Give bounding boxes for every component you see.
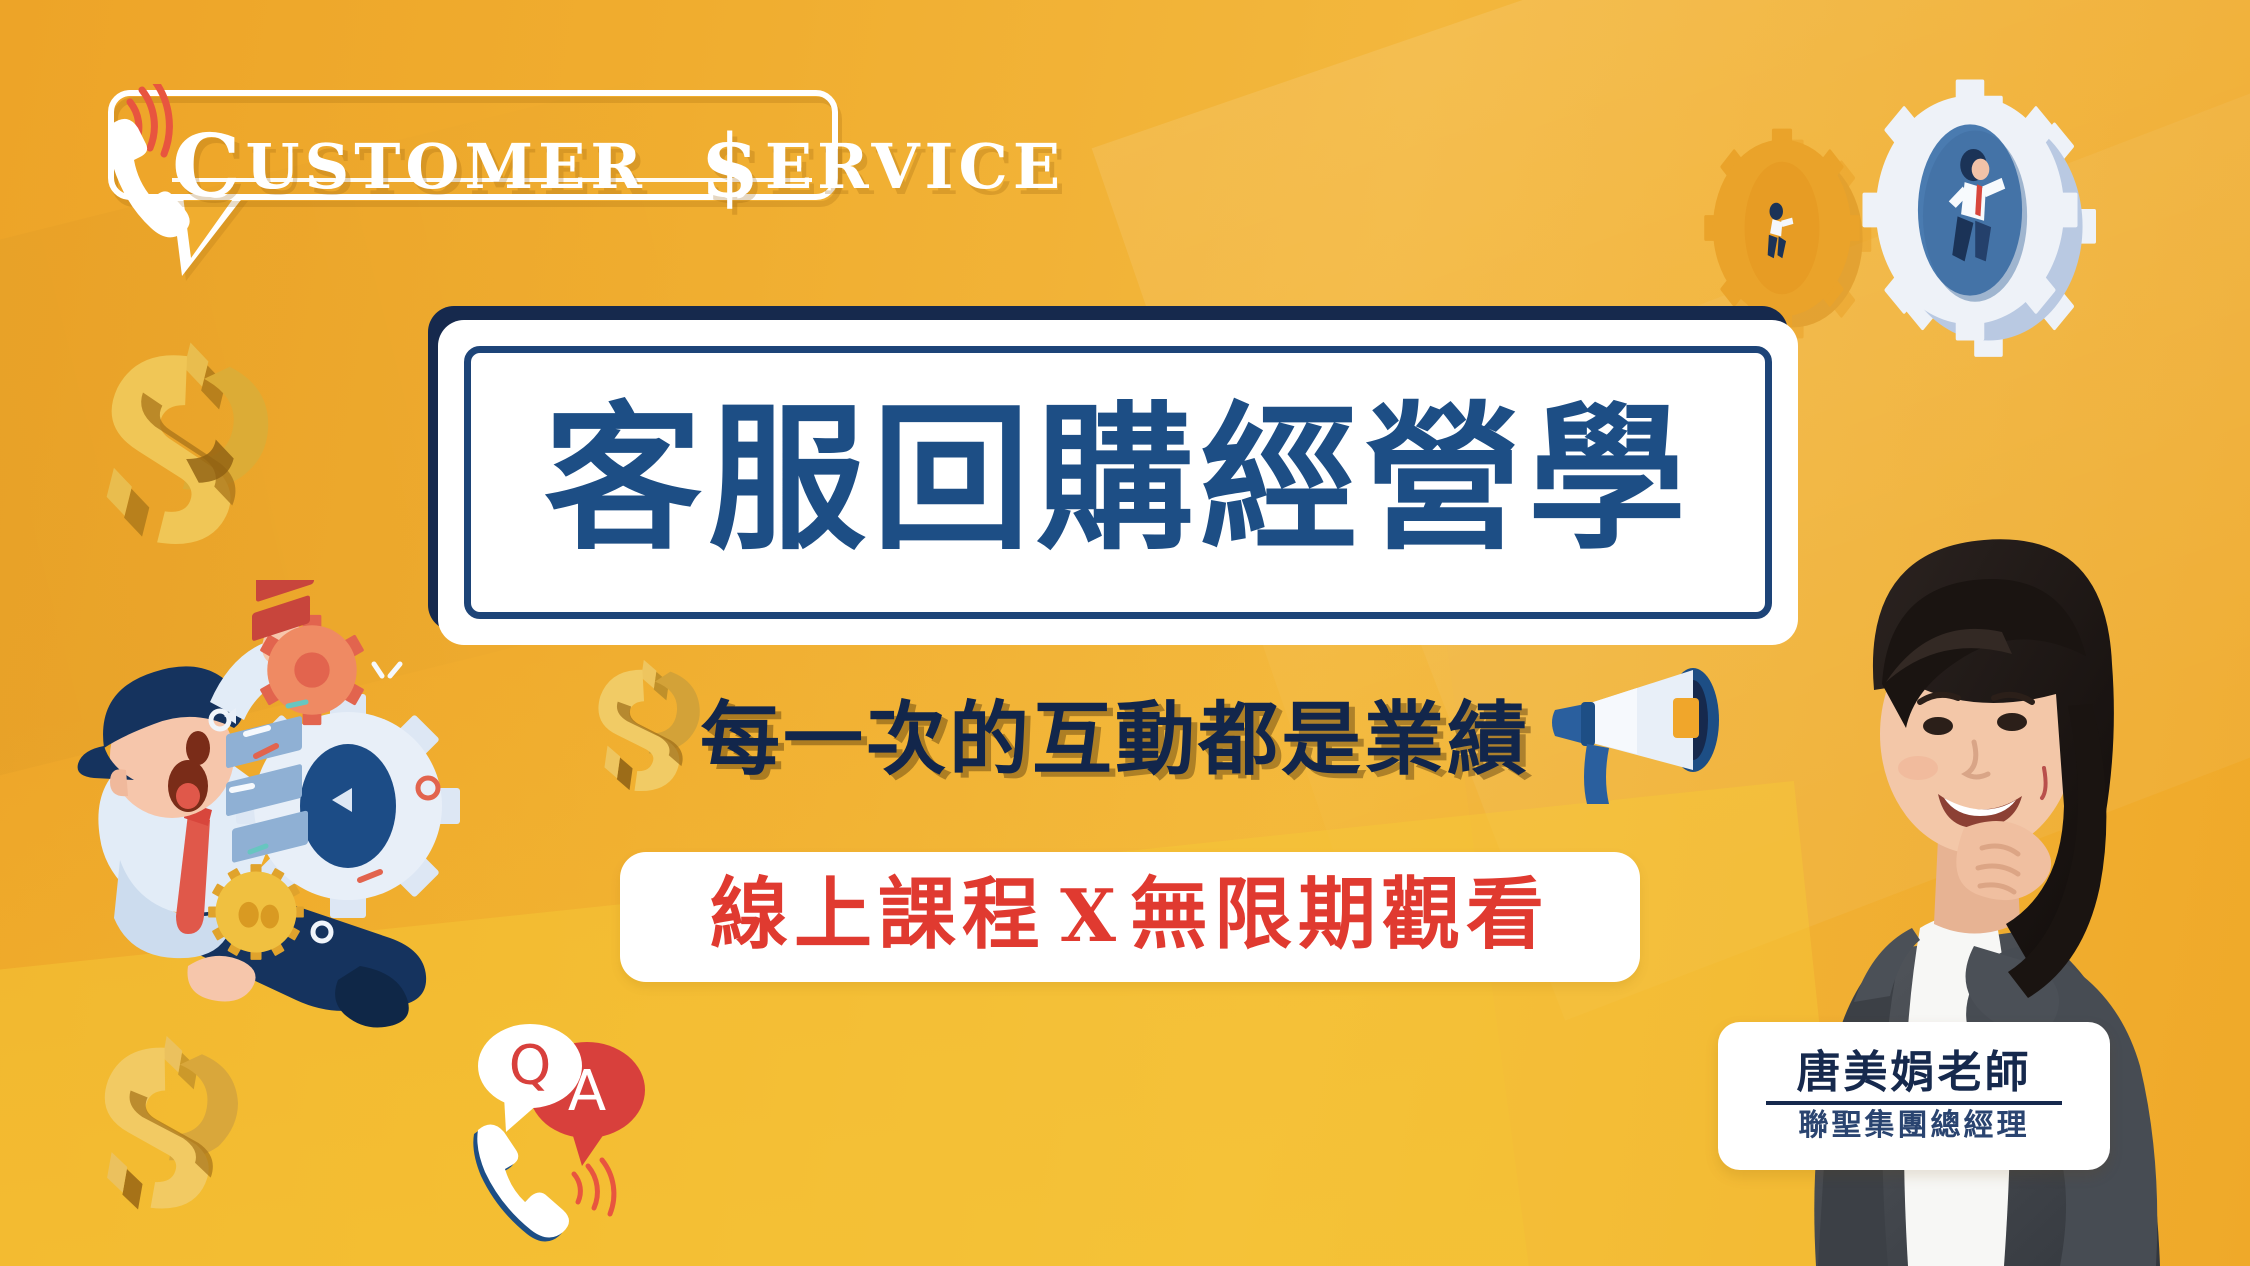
badge-word-customer: USTOMER [245,130,646,203]
badge-label: CUSTOMER $ERVICE [172,108,832,209]
dollar-sign-3d-small-icon [72,1034,247,1229]
offer-separator: X [1046,873,1130,958]
presenter-name: 唐美娟老師 [1797,1051,2032,1095]
badge-word-service: ERVICE [765,130,1065,203]
phone-handset-icon [76,84,206,244]
page-title: 客服回購經營學 [438,320,1798,645]
worker-stacking-gears-illustration [60,580,510,1050]
offer-pill-label: 線上課程X無限期觀看 [710,876,1550,959]
customer-service-badge: CUSTOMER $ERVICE [52,84,842,206]
qa-question-letter: Q [509,1034,552,1097]
badge-dollar-s: $ [700,116,765,217]
qa-speech-bubbles-icon: A Q [452,1022,687,1247]
course-title-plaque: 客服回購經營學 [438,320,1798,645]
presenter-name-card: 唐美娟老師 聯聖集團總經理 [1718,1022,2110,1170]
subtitle: 每一次的互動都是業績 [700,675,1530,791]
promo-banner: CUSTOMER $ERVICE 客服回購經營學 [0,0,2250,1266]
offer-left-text: 線上課程 [710,869,1046,960]
dollar-sign-3d-large-icon [68,338,283,563]
name-card-divider [1766,1101,2062,1105]
offer-pill[interactable]: 線上課程X無限期觀看 [620,852,1640,982]
offer-right-text: 無限期觀看 [1130,869,1550,960]
presenter-role: 聯聖集團總經理 [1799,1111,2030,1141]
